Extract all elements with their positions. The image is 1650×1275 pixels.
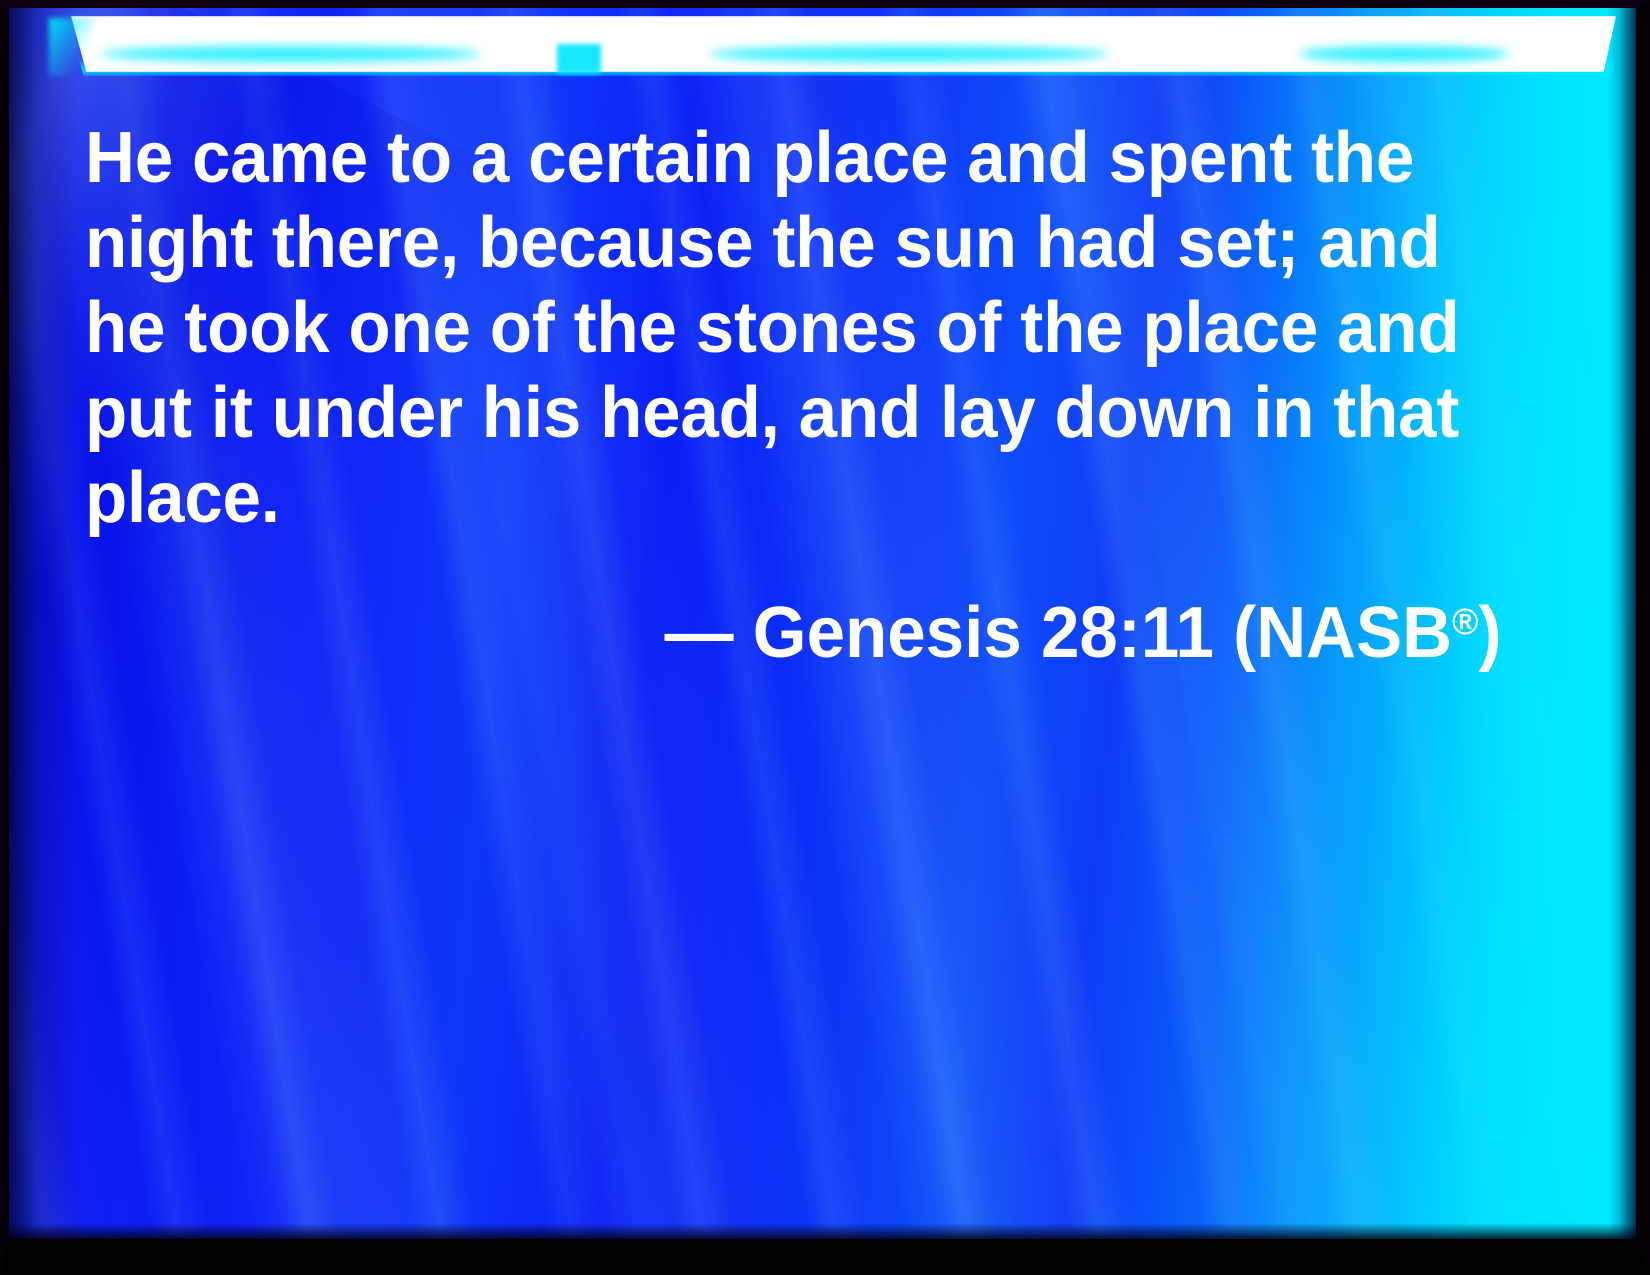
background-left-vignette <box>9 8 79 1239</box>
attribution-book: Genesis <box>753 593 1022 673</box>
attribution-reference: 28:11 <box>1041 593 1214 673</box>
verse-line-1: He came to a certain place and spent the <box>85 116 1458 201</box>
background-right-vignette <box>1608 8 1636 1239</box>
attribution-em-dash: — <box>664 593 733 673</box>
registered-trademark-icon: ® <box>1452 600 1478 642</box>
verse-slide: He came to a certain place and spent the… <box>0 0 1650 1275</box>
verse-line-4: put it under his head, and lay down in t… <box>85 371 1458 456</box>
slide-canvas: He came to a certain place and spent the… <box>9 8 1636 1239</box>
verse-attribution: — Genesis 28:11 (NASB®) <box>142 579 1515 675</box>
verse-text-block: He came to a certain place and spent the… <box>85 116 1515 675</box>
verse-line-2: night there, because the sun had set; an… <box>85 201 1458 286</box>
attribution-translation-close: ) <box>1479 593 1502 673</box>
attribution-translation-open: (NASB <box>1233 593 1452 673</box>
verse-line-3: he took one of the stones of the place a… <box>85 286 1458 371</box>
verse-line-5: place. <box>85 456 1458 541</box>
background-bottom-vignette <box>9 1223 1636 1239</box>
